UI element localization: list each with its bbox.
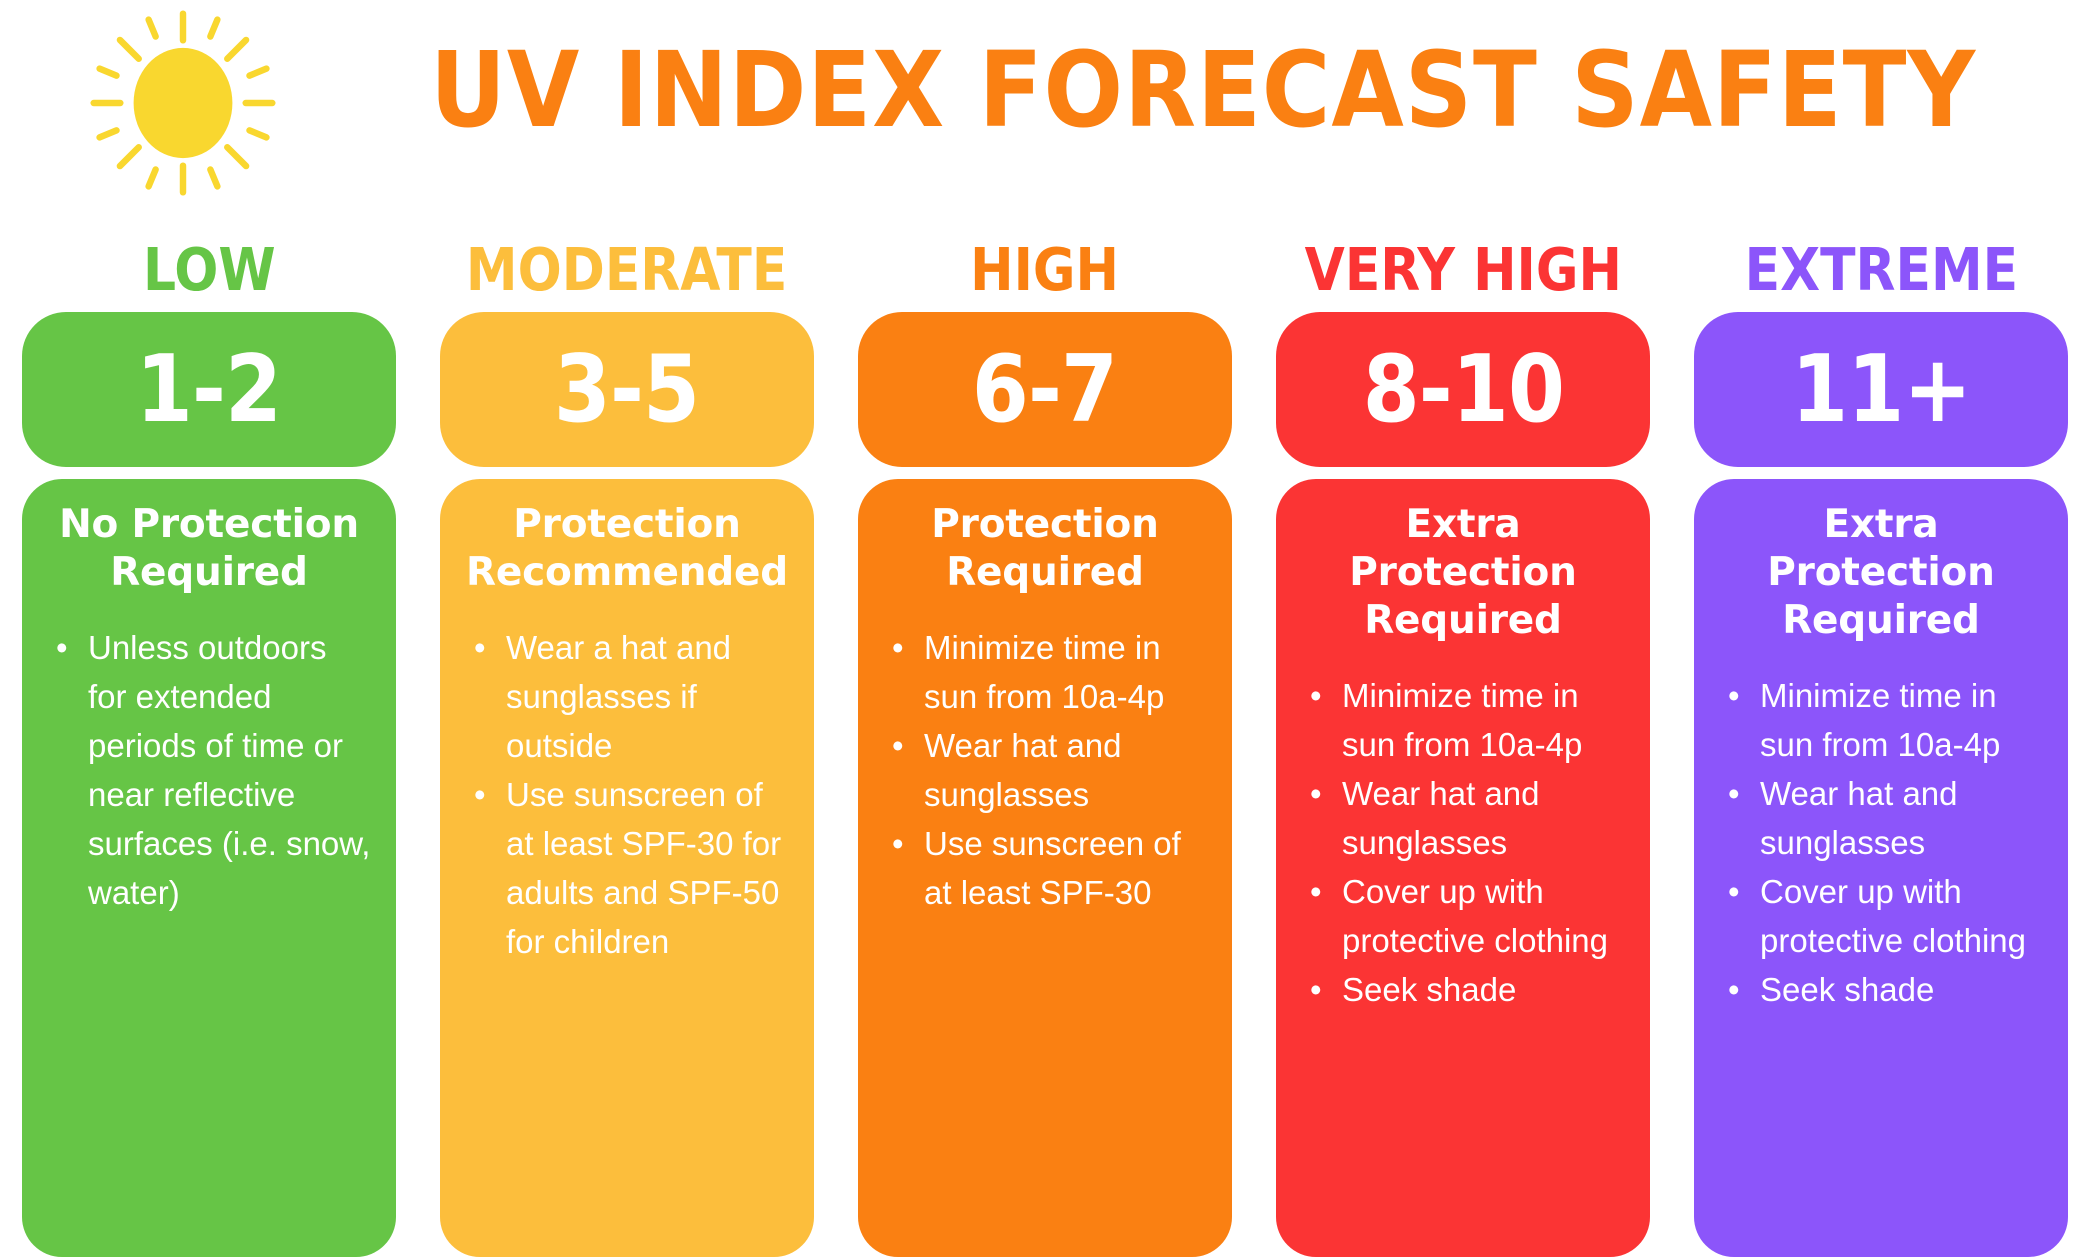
category-label-moderate: MODERATE bbox=[440, 228, 814, 312]
list-item: Minimize time in sun from 10a-4p bbox=[1756, 671, 2044, 769]
list-item: Wear hat and sunglasses bbox=[920, 721, 1208, 819]
uv-category-columns: LOW 1-2 No Protection Required Unless ou… bbox=[0, 228, 2090, 1257]
category-label-very-high-text: VERY HIGH bbox=[1304, 228, 1621, 312]
panel-list-high: Minimize time in sun from 10a-4p Wear ha… bbox=[868, 623, 1222, 917]
info-panel-extreme: Extra Protection Required Minimize time … bbox=[1694, 479, 2068, 1257]
range-badge-low-text: 1-2 bbox=[136, 343, 281, 436]
panel-heading-moderate: Protection Recommended bbox=[450, 501, 804, 597]
category-label-extreme: EXTREME bbox=[1694, 228, 2068, 312]
info-panel-very-high: Extra Protection Required Minimize time … bbox=[1276, 479, 1650, 1257]
range-badge-moderate-text: 3-5 bbox=[554, 343, 699, 436]
list-item: Wear hat and sunglasses bbox=[1756, 769, 2044, 867]
info-panel-high: Protection Required Minimize time in sun… bbox=[858, 479, 1232, 1257]
uv-column-extreme: EXTREME 11+ Extra Protection Required Mi… bbox=[1672, 228, 2090, 1257]
range-badge-high-text: 6-7 bbox=[972, 343, 1117, 436]
range-badge-moderate: 3-5 bbox=[440, 312, 814, 467]
uv-column-low: LOW 1-2 No Protection Required Unless ou… bbox=[0, 228, 418, 1257]
panel-heading-low: No Protection Required bbox=[32, 501, 386, 597]
uv-column-very-high: VERY HIGH 8-10 Extra Protection Required… bbox=[1254, 228, 1672, 1257]
category-label-high-text: HIGH bbox=[971, 228, 1120, 312]
range-badge-very-high: 8-10 bbox=[1276, 312, 1650, 467]
range-badge-extreme: 11+ bbox=[1694, 312, 2068, 467]
category-label-high: HIGH bbox=[858, 228, 1232, 312]
panel-list-low: Unless outdoors for extended periods of … bbox=[32, 623, 386, 917]
page-title: UV INDEX FORECAST SAFETY bbox=[430, 36, 1834, 144]
list-item: Minimize time in sun from 10a-4p bbox=[920, 623, 1208, 721]
list-item: Seek shade bbox=[1756, 965, 2044, 1014]
list-item: Wear hat and sunglasses bbox=[1338, 769, 1626, 867]
panel-heading-very-high: Extra Protection Required bbox=[1286, 501, 1640, 645]
list-item: Unless outdoors for extended periods of … bbox=[84, 623, 372, 917]
header: UV INDEX FORECAST SAFETY bbox=[0, 0, 2090, 218]
category-label-low: LOW bbox=[22, 228, 396, 312]
category-label-low-text: LOW bbox=[143, 228, 276, 312]
panel-list-very-high: Minimize time in sun from 10a-4p Wear ha… bbox=[1286, 671, 1640, 1014]
sun-icon bbox=[88, 8, 278, 198]
info-panel-low: No Protection Required Unless outdoors f… bbox=[22, 479, 396, 1257]
info-panel-moderate: Protection Recommended Wear a hat and su… bbox=[440, 479, 814, 1257]
range-badge-very-high-text: 8-10 bbox=[1362, 343, 1563, 436]
list-item: Use sunscreen of at least SPF-30 for adu… bbox=[502, 770, 790, 966]
list-item: Wear a hat and sunglasses if outside bbox=[502, 623, 790, 770]
list-item: Minimize time in sun from 10a-4p bbox=[1338, 671, 1626, 769]
range-badge-extreme-text: 11+ bbox=[1791, 343, 1971, 436]
list-item: Seek shade bbox=[1338, 965, 1626, 1014]
range-badge-low: 1-2 bbox=[22, 312, 396, 467]
category-label-extreme-text: EXTREME bbox=[1744, 228, 2018, 312]
range-badge-high: 6-7 bbox=[858, 312, 1232, 467]
category-label-very-high: VERY HIGH bbox=[1276, 228, 1650, 312]
panel-list-moderate: Wear a hat and sunglasses if outside Use… bbox=[450, 623, 804, 966]
list-item: Cover up with protective clothing bbox=[1756, 867, 2044, 965]
category-label-moderate-text: MODERATE bbox=[466, 228, 787, 312]
uv-column-high: HIGH 6-7 Protection Required Minimize ti… bbox=[836, 228, 1254, 1257]
uv-column-moderate: MODERATE 3-5 Protection Recommended Wear… bbox=[418, 228, 836, 1257]
list-item: Cover up with protective clothing bbox=[1338, 867, 1626, 965]
panel-heading-high: Protection Required bbox=[868, 501, 1222, 597]
list-item: Use sunscreen of at least SPF-30 bbox=[920, 819, 1208, 917]
panel-list-extreme: Minimize time in sun from 10a-4p Wear ha… bbox=[1704, 671, 2058, 1014]
panel-heading-extreme: Extra Protection Required bbox=[1704, 501, 2058, 645]
